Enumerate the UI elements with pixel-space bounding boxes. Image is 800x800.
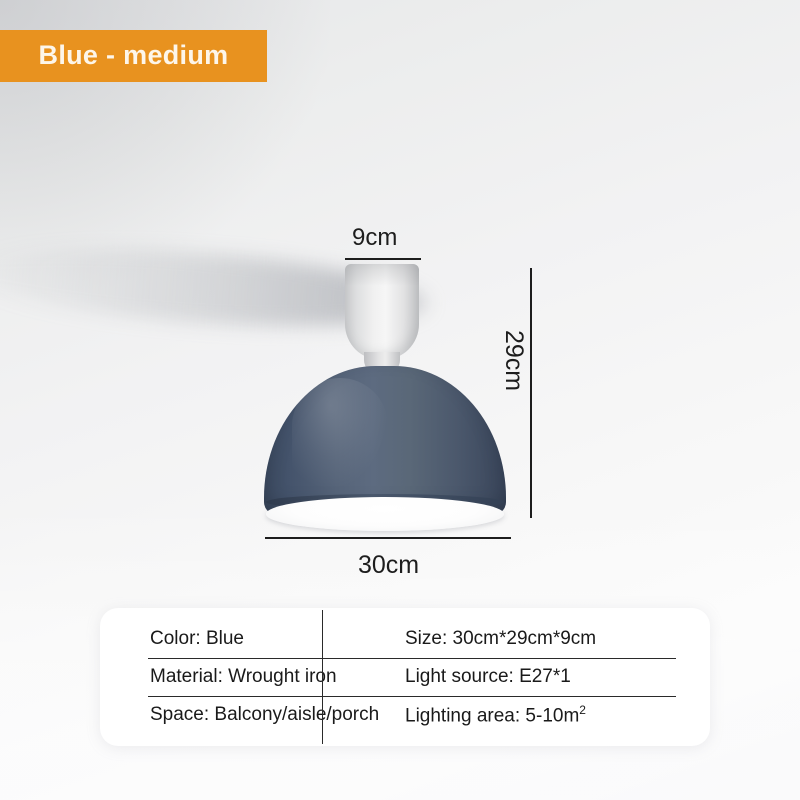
dimension-line-top-width	[345, 258, 421, 260]
spec-row: Color: Blue Size: 30cm*29cm*9cm	[100, 620, 710, 658]
spec-space: Space: Balcony/aisle/porch	[100, 704, 375, 726]
dimension-line-height	[530, 268, 532, 518]
product-image-canvas: Blue - medium 9cm 29cm 30cm Color: Blue …	[0, 0, 800, 800]
spec-lighting-area-superscript: 2	[579, 703, 586, 717]
spec-light-source: Light source: E27*1	[375, 666, 571, 688]
spec-lighting-area-text: Lighting area: 5-10m	[405, 705, 579, 726]
dimension-label-bottom-width: 30cm	[358, 551, 419, 580]
specification-column-divider	[322, 610, 323, 744]
spec-row: Material: Wrought iron Light source: E27…	[100, 658, 710, 696]
spec-size: Size: 30cm*29cm*9cm	[375, 628, 596, 650]
variant-badge: Blue - medium	[0, 30, 267, 82]
lamp-shade	[264, 366, 506, 516]
spec-row: Space: Balcony/aisle/porch Lighting area…	[100, 696, 710, 734]
specification-card: Color: Blue Size: 30cm*29cm*9cm Material…	[100, 608, 710, 746]
dimension-label-top-width: 9cm	[352, 224, 397, 252]
spec-color: Color: Blue	[100, 628, 375, 650]
spec-lighting-area: Lighting area: 5-10m2	[375, 703, 586, 727]
spec-material: Material: Wrought iron	[100, 666, 375, 688]
lamp-shade-rim-edge	[266, 494, 504, 510]
dimension-label-height: 29cm	[499, 330, 528, 391]
lamp-neck	[364, 352, 400, 374]
variant-badge-label: Blue - medium	[39, 40, 229, 71]
lamp-shade-highlight	[292, 378, 388, 488]
lamp-shade-inner-rim	[266, 497, 504, 531]
dimension-line-bottom-width	[265, 537, 511, 539]
